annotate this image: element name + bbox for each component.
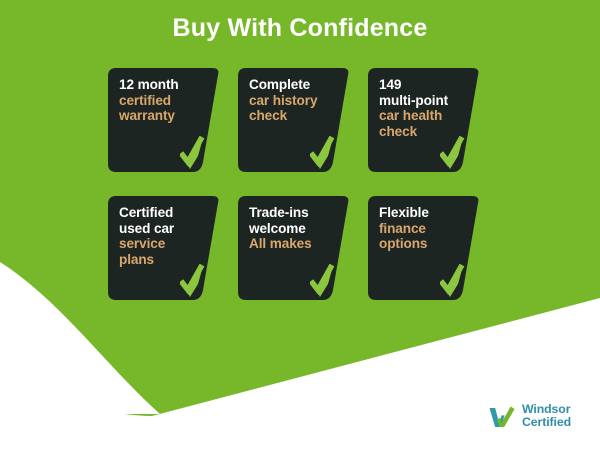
card-line-white: welcome [249,221,343,237]
benefit-card-car-health-check[interactable]: 149 multi-point car health check [368,68,480,172]
benefit-card-grid: 12 month certified warranty Complete car… [108,68,500,300]
card-line-white: 12 month [119,77,213,93]
card-text-block: 149 multi-point car health check [379,77,473,139]
card-text-block: Flexible finance options [379,205,473,252]
card-line-white: used car [119,221,213,237]
card-line-accent: car history [249,93,343,109]
logo-wordmark: Windsor Certified [522,403,571,430]
logo-line-2: Certified [522,416,571,429]
card-line-accent: car health [379,108,473,124]
benefit-card-finance-options[interactable]: Flexible finance options [368,196,480,300]
checkmark-icon [310,136,336,170]
promo-banner: Buy With Confidence 12 month certified w… [0,0,600,450]
card-line-accent: All makes [249,236,343,252]
card-line-accent: certified [119,93,213,109]
card-text-block: Certified used car service plans [119,205,213,267]
checkmark-icon [310,264,336,298]
checkmark-icon [440,136,466,170]
card-line-white: Trade-ins [249,205,343,221]
card-line-white: Certified [119,205,213,221]
card-text-block: Complete car history check [249,77,343,124]
card-line-white: 149 [379,77,473,93]
card-line-accent: finance [379,221,473,237]
windsor-certified-logo[interactable]: Windsor Certified [487,399,587,433]
card-line-white: multi-point [379,93,473,109]
benefit-card-car-history-check[interactable]: Complete car history check [238,68,350,172]
windsor-w-monogram-icon [487,401,517,431]
page-title: Buy With Confidence [0,14,600,43]
checkmark-icon [180,136,206,170]
card-text-block: Trade-ins welcome All makes [249,205,343,252]
logo-line-1: Windsor [522,403,571,416]
card-line-white: Flexible [379,205,473,221]
card-line-white: Complete [249,77,343,93]
card-text-block: 12 month certified warranty [119,77,213,124]
card-line-accent: service [119,236,213,252]
benefit-card-certified-warranty[interactable]: 12 month certified warranty [108,68,220,172]
checkmark-icon [440,264,466,298]
card-line-accent: warranty [119,108,213,124]
checkmark-icon [180,264,206,298]
card-line-accent: options [379,236,473,252]
card-line-accent: check [249,108,343,124]
benefit-card-trade-ins[interactable]: Trade-ins welcome All makes [238,196,350,300]
benefit-card-service-plans[interactable]: Certified used car service plans [108,196,220,300]
